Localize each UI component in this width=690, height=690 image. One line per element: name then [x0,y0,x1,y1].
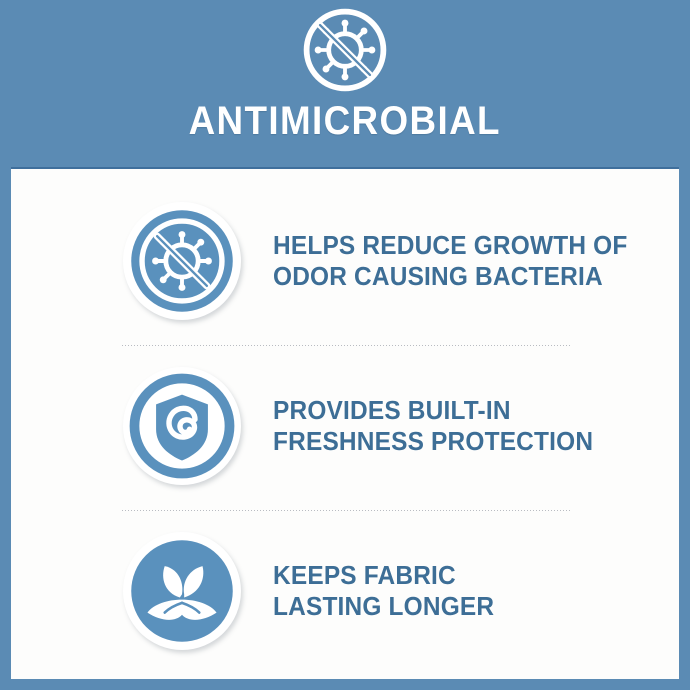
feature-label-line1: HELPS REDUCE GROWTH OF [273,230,627,260]
feature-label-line2: FRESHNESS PROTECTION [273,426,593,457]
divider [122,510,570,511]
feature-badge [123,202,241,320]
header: ANTIMICROBIAL [0,0,690,167]
feature-label: HELPS REDUCE GROWTH OF ODOR CAUSING BACT… [273,230,627,292]
feature-badge [123,532,241,650]
feature-label: KEEPS FABRIC LASTING LONGER [273,560,494,622]
feature-label-line2: LASTING LONGER [273,591,494,622]
feature-badge [123,367,241,485]
feature-label-line1: KEEPS FABRIC [273,560,456,590]
page-title: ANTIMICROBIAL [189,100,501,142]
list-item: HELPS REDUCE GROWTH OF ODOR CAUSING BACT… [11,195,679,327]
no-virus-icon [297,2,393,98]
divider [122,345,570,346]
list-item: PROVIDES BUILT-IN FRESHNESS PROTECTION [11,360,679,492]
feature-label-line1: PROVIDES BUILT-IN [273,395,511,425]
leaf-sprout-icon [128,537,236,645]
features-list: HELPS REDUCE GROWTH OF ODOR CAUSING BACT… [11,169,679,679]
shield-swirl-icon [128,372,236,480]
feature-label-line2: ODOR CAUSING BACTERIA [273,261,627,292]
no-virus-icon [128,207,236,315]
antimicrobial-poster: ANTIMICROBIAL [0,0,690,690]
list-item: KEEPS FABRIC LASTING LONGER [11,525,679,657]
features-panel: HELPS REDUCE GROWTH OF ODOR CAUSING BACT… [11,167,679,679]
feature-label: PROVIDES BUILT-IN FRESHNESS PROTECTION [273,395,593,457]
